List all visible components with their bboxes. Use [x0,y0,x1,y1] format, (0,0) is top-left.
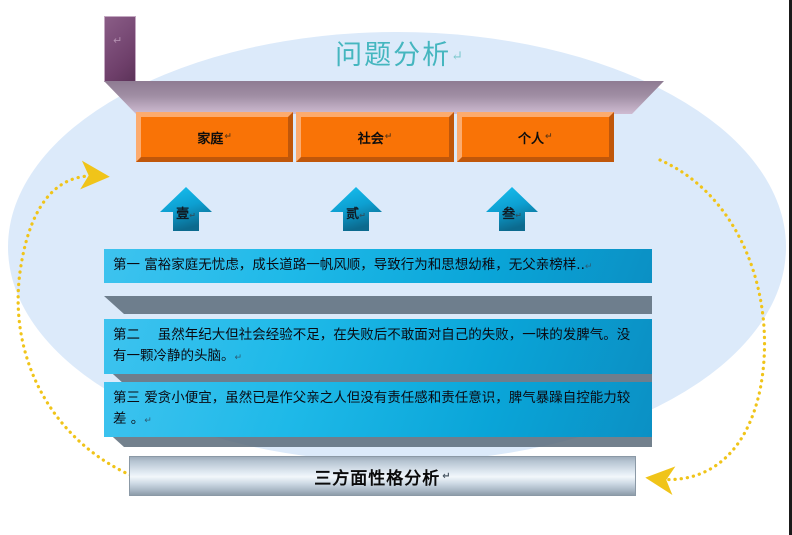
page-title-text: 问题分析 [335,40,451,71]
up-arrow-label-wrap: 叁↵ [484,203,540,222]
pilcrow-mark: ↵ [545,132,553,142]
category-box-family[interactable]: 家庭↵ [136,112,293,162]
pilcrow-mark: ↵ [515,211,522,220]
point-text: 第三 爱贪小便宜，虽然已是作父亲之人但没有责任感和责任意识，脾气暴躁自控能力较差… [113,390,630,427]
up-arrow-label: 壹 [176,207,189,222]
up-arrow-three[interactable]: 叁↵ [484,185,540,233]
pilcrow-mark: ↵ [224,132,232,142]
category-label: 社会 [358,128,384,147]
pilcrow-mark: ↵ [189,211,196,220]
up-arrow-label: 贰 [346,207,359,222]
pilcrow-mark: ↵ [585,262,593,272]
purple-trapezoid [104,81,664,114]
pilcrow-mark: ↵ [451,49,465,65]
conclusion-bar[interactable]: 三方面性格分析↵ [129,456,636,496]
conclusion-label: 三方面性格分析 [314,464,440,489]
category-boxes: 家庭↵ 社会↵ 个人↵ [136,112,614,162]
point-block-two: 第二 虽然年纪大但社会经验不足，在失败后不敢面对自己的失败，一味的发脾气。没有一… [104,319,652,374]
page-title: 问题分析↵ [250,33,550,72]
up-arrow-one[interactable]: 壹↵ [158,185,214,233]
category-box-society[interactable]: 社会↵ [296,112,453,162]
category-label: 家庭 [197,128,223,147]
up-arrow-label-wrap: 壹↵ [158,203,214,222]
point-block-one: 第一 富裕家庭无忧虑，成长道路一帆风顺，导致行为和思想幼稚，无父亲榜样..↵ [104,249,652,283]
pilcrow-mark: ↵ [359,211,366,220]
point-text-box[interactable]: 第一 富裕家庭无忧虑，成长道路一帆风顺，导致行为和思想幼稚，无父亲榜样..↵ [104,249,652,283]
point-text-box[interactable]: 第二 虽然年纪大但社会经验不足，在失败后不敢面对自己的失败，一味的发脾气。没有一… [104,319,652,374]
box-shadow-shape [104,296,652,314]
pilcrow-mark: ↵ [235,353,243,363]
up-arrow-label-wrap: 贰↵ [328,203,384,222]
category-box-personal[interactable]: 个人↵ [457,112,614,162]
purple-accent-block: ↵ [104,16,136,82]
point-text: 第二 虽然年纪大但社会经验不足，在失败后不敢面对自己的失败，一味的发脾气。没有一… [113,327,630,364]
pilcrow-mark: ↵ [385,132,393,142]
category-label: 个人 [518,128,544,147]
point-block-three: 第三 爱贪小便宜，虽然已是作父亲之人但没有责任感和责任意识，脾气暴躁自控能力较差… [104,382,652,437]
pilcrow-mark: ↵ [442,471,450,482]
pilcrow-mark: ↵ [113,34,122,47]
up-arrow-label: 叁 [502,207,515,222]
slide-canvas: ↵ 问题分析↵ 家庭↵ 社会↵ 个人↵ [0,0,792,535]
point-text: 第一 富裕家庭无忧虑，成长道路一帆风顺，导致行为和思想幼稚，无父亲榜样.. [113,257,585,273]
point-text-box[interactable]: 第三 爱贪小便宜，虽然已是作父亲之人但没有责任感和责任意识，脾气暴躁自控能力较差… [104,382,652,437]
up-arrow-two[interactable]: 贰↵ [328,185,384,233]
pilcrow-mark: ↵ [144,416,152,426]
